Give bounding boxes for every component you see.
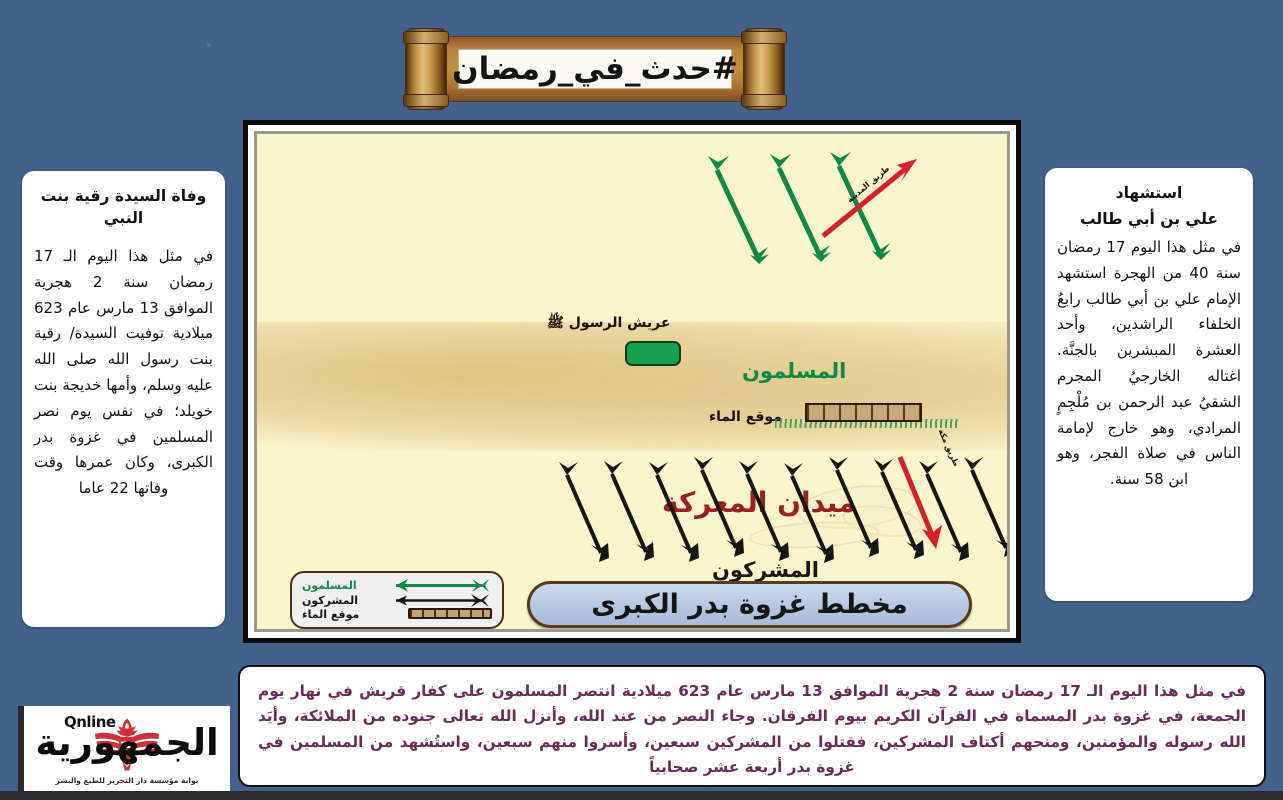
page-root: #حدث_في_رمضان وفاة السيدة رقية بنت النبي… [0, 0, 1283, 800]
battle-map-canvas: عريش الرسول ﷺ المسلمون موقع الماء ميدان … [254, 131, 1010, 632]
map-label-prophet-shelter: عريش الرسول ﷺ [547, 314, 670, 334]
legend-label-water: موقع الماء [302, 608, 382, 621]
card-right-title-line2: علي بن أبي طالب [1057, 208, 1241, 230]
water-well-icon [805, 403, 922, 422]
card-badr-summary: في مثل هذا اليوم الـ 17 رمضان سنة 2 هجري… [238, 665, 1266, 787]
legend-row-muslims: المسلمون [302, 578, 492, 593]
battle-map-frame: عريش الرسول ﷺ المسلمون موقع الماء ميدان … [243, 120, 1021, 643]
banner-hashtag: #حدث_في_رمضان [457, 48, 733, 90]
legend-label-muslims: المسلمون [302, 579, 374, 592]
card-left-body: في مثل هذا اليوم الـ 17 رمضان سنة 2 هجري… [34, 244, 213, 502]
card-right-title-line1: استشهاد [1057, 182, 1241, 204]
map-legend: المسلمون المشركون [290, 571, 504, 629]
bottom-edge-strip [0, 791, 1283, 800]
prophet-shelter-marker [625, 341, 681, 366]
legend-green-arrow-icon [382, 579, 492, 592]
map-label-water-location: موقع الماء [709, 409, 782, 425]
card-bottom-body: في مثل هذا اليوم الـ 17 رمضان سنة 2 هجري… [258, 679, 1246, 781]
card-left-title: وفاة السيدة رقية بنت النبي [34, 185, 213, 230]
map-caption-text: مخطط غزوة بدر الكبرى [591, 589, 908, 620]
card-right-body: في مثل هذا اليوم 17 رمضان سنة 40 من الهج… [1057, 235, 1241, 493]
legend-row-water: موقع الماء [302, 607, 492, 622]
logo-name-text: الجمهورية [24, 724, 230, 761]
decorative-dot [207, 43, 211, 47]
logo-tagline: بوابة مؤسسة دار التحرير للطبع والنشر [24, 776, 230, 785]
legend-label-polytheists: المشركون [302, 594, 374, 607]
card-ruqayyah: وفاة السيدة رقية بنت النبي في مثل هذا ال… [22, 171, 225, 627]
road-to-mecca-arrow [890, 449, 980, 559]
scroll-roll-right-icon [743, 28, 785, 110]
publisher-logo[interactable]: Qnline الجمهورية بوابة مؤسسة دار التحرير… [18, 706, 230, 791]
card-ali-ibn-abi-talib: استشهاد علي بن أبي طالب في مثل هذا اليوم… [1045, 168, 1253, 601]
road-to-medina-arrow [809, 152, 939, 252]
legend-row-polytheists: المشركون [302, 593, 492, 608]
map-label-muslims: المسلمون [742, 359, 846, 383]
legend-black-arrow-icon [382, 594, 492, 607]
map-caption-banner: مخطط غزوة بدر الكبرى [527, 581, 972, 628]
legend-brick-well-icon [390, 608, 492, 621]
title-banner: #حدث_في_رمضان [405, 28, 785, 110]
scroll-roll-left-icon [405, 28, 447, 110]
